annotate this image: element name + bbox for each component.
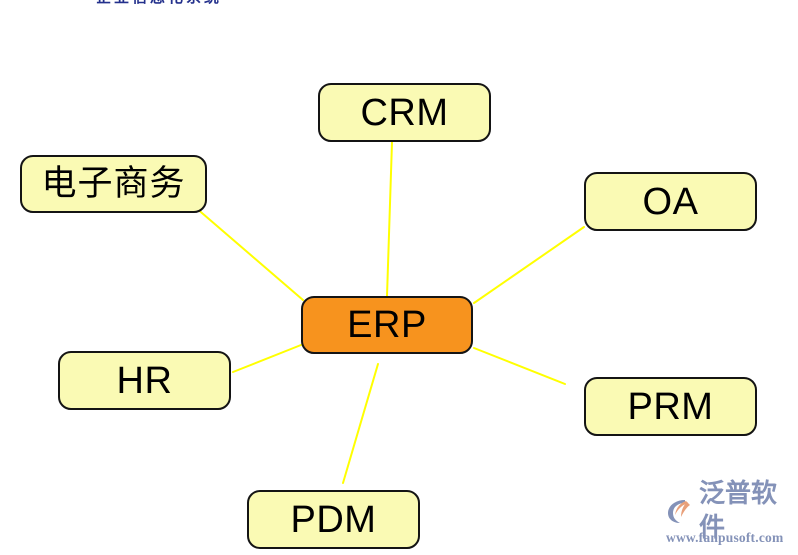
fanpu-logo-icon <box>663 494 697 528</box>
node-crm[interactable]: CRM <box>318 83 491 142</box>
watermark: 泛普软件 www.fanpusoft.com <box>663 493 795 551</box>
connector-erp-prm <box>474 348 565 384</box>
connector-erp-pdm <box>343 364 378 483</box>
node-oa[interactable]: OA <box>584 172 757 231</box>
node-pdm[interactable]: PDM <box>247 490 420 549</box>
node-ecommerce[interactable]: 电子商务 <box>20 155 207 213</box>
node-erp[interactable]: ERP <box>301 296 473 354</box>
node-erp-label: ERP <box>347 306 427 344</box>
connector-erp-oa <box>474 227 584 303</box>
connector-erp-ecommerce <box>195 207 303 300</box>
node-ecommerce-label: 电子商务 <box>41 167 185 202</box>
node-crm-label: CRM <box>360 94 448 132</box>
node-prm[interactable]: PRM <box>584 377 757 436</box>
diagram-canvas: 企业信息化系统 ERP CRM OA PRM PDM HR 电子商务 泛普软件 <box>0 0 798 555</box>
node-oa-label: OA <box>643 183 699 221</box>
connector-erp-hr <box>233 345 301 372</box>
watermark-row: 泛普软件 <box>663 493 795 529</box>
clipped-heading-text: 企业信息化系统 <box>96 0 396 4</box>
node-hr-label: HR <box>117 362 173 400</box>
node-prm-label: PRM <box>628 388 714 426</box>
connector-erp-crm <box>387 142 392 296</box>
watermark-url: www.fanpusoft.com <box>666 530 795 546</box>
node-pdm-label: PDM <box>291 501 377 539</box>
node-hr[interactable]: HR <box>58 351 231 410</box>
